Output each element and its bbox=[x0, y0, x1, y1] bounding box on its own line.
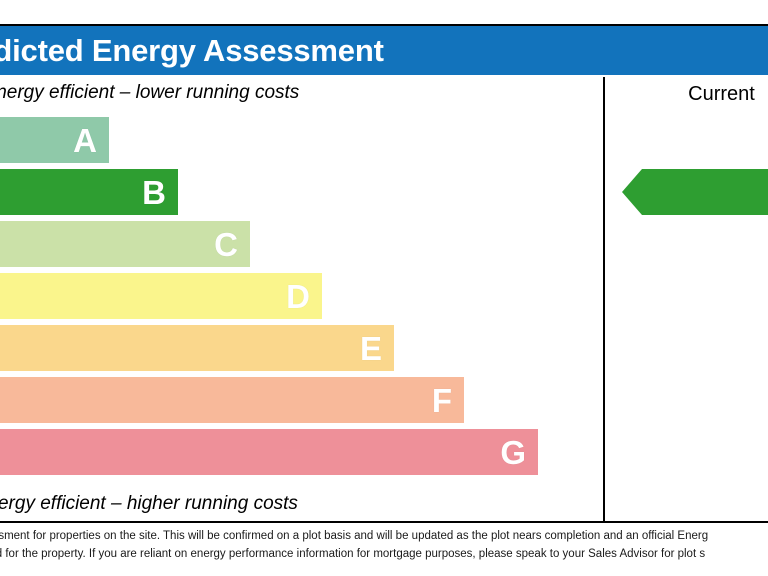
rating-band-b-letter: B bbox=[142, 176, 178, 209]
rating-band-d: D bbox=[0, 273, 322, 319]
caption-most-efficient: Very energy efficient – lower running co… bbox=[0, 82, 299, 104]
rating-band-d-letter: D bbox=[286, 280, 322, 313]
rating-band-b: B bbox=[0, 169, 178, 215]
rating-band-c-letter: C bbox=[214, 228, 250, 261]
rating-band-e-letter: E bbox=[360, 332, 394, 365]
certificate-frame: Predicted Energy Assessment Very energy … bbox=[0, 24, 768, 523]
rating-band-a: A bbox=[0, 117, 109, 163]
energy-rating-graph-panel: Very energy efficient – lower running co… bbox=[0, 77, 605, 521]
disclaimer-line-2: ated/displayed for the property. If you … bbox=[0, 546, 768, 564]
rating-band-e: E bbox=[0, 325, 394, 371]
certificate-title-bar: Predicted Energy Assessment bbox=[0, 26, 768, 75]
disclaimer-text: Energy Assessment for properties on the … bbox=[0, 528, 768, 563]
current-column-heading: Current bbox=[605, 83, 768, 106]
disclaimer-line-1: Energy Assessment for properties on the … bbox=[0, 528, 768, 546]
epc-certificate: Predicted Energy Assessment Very energy … bbox=[0, 0, 768, 576]
rating-band-f: F bbox=[0, 377, 464, 423]
current-rating-arrow: B bbox=[622, 169, 768, 215]
rating-band-g-letter: G bbox=[500, 436, 538, 469]
page-title: Predicted Energy Assessment bbox=[0, 33, 384, 69]
rating-band-c: C bbox=[0, 221, 250, 267]
rating-band-f-letter: F bbox=[432, 384, 464, 417]
rating-band-a-letter: A bbox=[73, 124, 109, 157]
current-rating-panel: Current B bbox=[605, 77, 768, 521]
caption-least-efficient: Not energy efficient – higher running co… bbox=[0, 493, 298, 515]
certificate-body: Very energy efficient – lower running co… bbox=[0, 77, 768, 521]
rating-band-g: G bbox=[0, 429, 538, 475]
